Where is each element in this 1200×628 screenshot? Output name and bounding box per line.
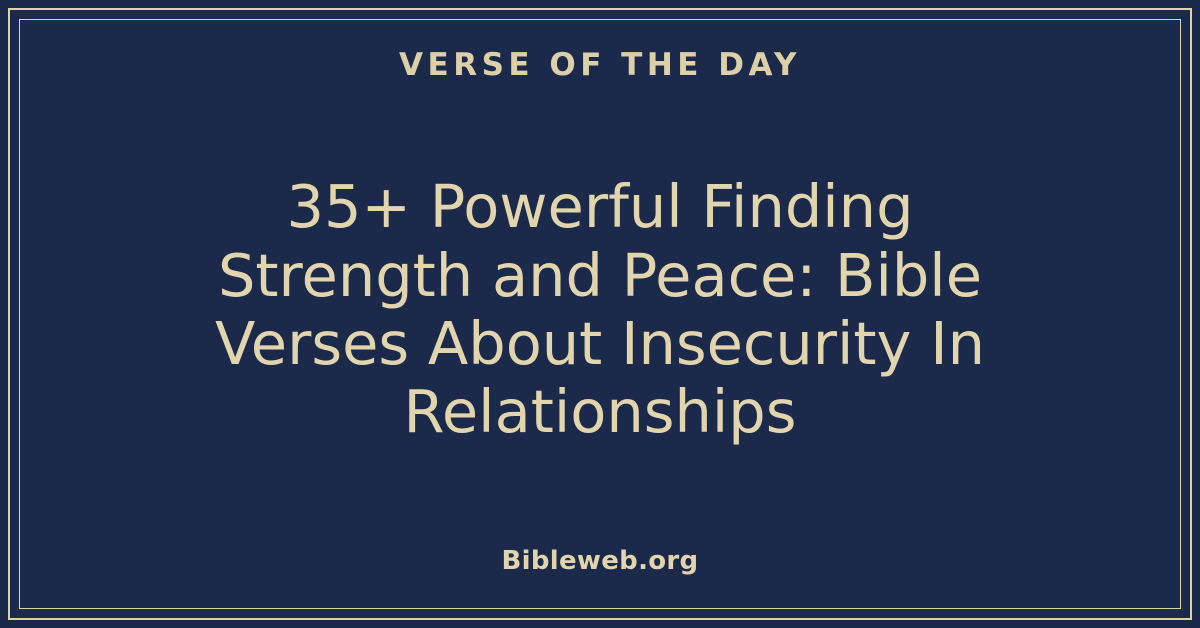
page-title: 35+ Powerful Finding Strength and Peace:… <box>150 173 1050 447</box>
site-attribution: Bibleweb.org <box>502 546 699 576</box>
card-content: VERSE OF THE DAY 35+ Powerful Finding St… <box>30 30 1170 598</box>
verse-of-the-day-card: VERSE OF THE DAY 35+ Powerful Finding St… <box>0 0 1200 628</box>
title-container: 35+ Powerful Finding Strength and Peace:… <box>30 74 1170 546</box>
